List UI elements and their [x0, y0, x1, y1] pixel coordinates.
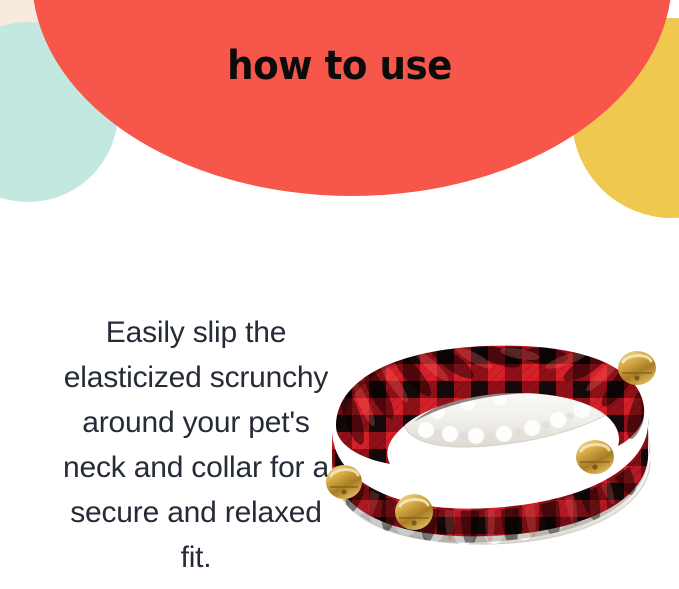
- main-content: Easily slip the elasticized scrunchy aro…: [0, 230, 679, 589]
- bell-right: [576, 440, 614, 474]
- bell-left: [326, 465, 362, 499]
- page-title: how to use: [24, 44, 655, 88]
- header-decorative-band: how to use: [0, 0, 679, 230]
- red-ellipse-shape: [32, 0, 672, 196]
- plaid-collar-scrunchy-illustration: [318, 330, 663, 545]
- bell-bottom-center: [395, 494, 433, 530]
- product-image: [318, 330, 663, 545]
- header-shapes-svg: [0, 0, 679, 230]
- how-to-use-infographic: how to use Easily slip the elasticized s…: [0, 0, 679, 589]
- instruction-text: Easily slip the elasticized scrunchy aro…: [62, 310, 330, 580]
- bell-top-right: [618, 351, 656, 385]
